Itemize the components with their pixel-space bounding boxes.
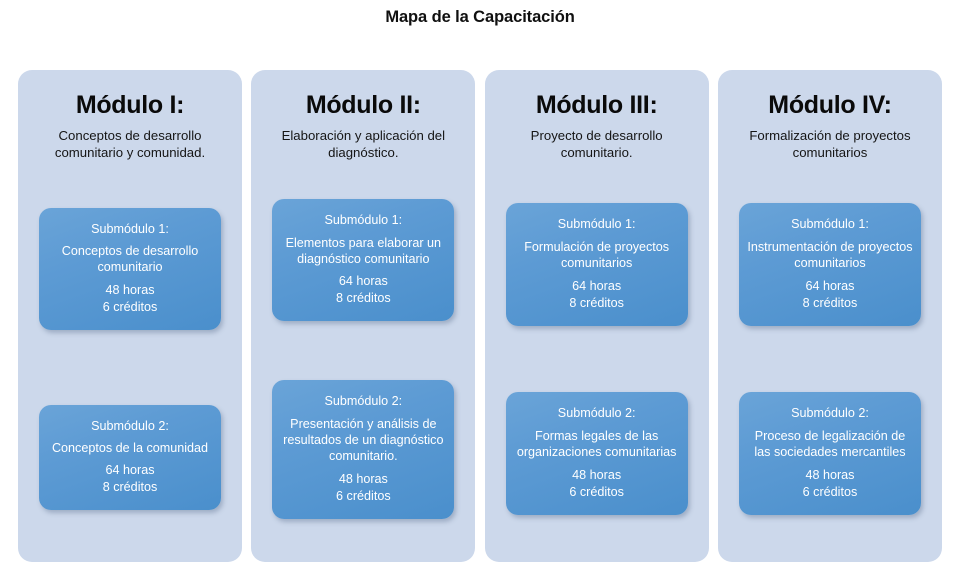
submodule-box: Submódulo 2: Formas legales de las organ… [506, 392, 688, 514]
submodule-hours: 48 horas [572, 467, 621, 484]
submodule-label: Submódulo 2: [91, 418, 169, 434]
module-title: Módulo I: [76, 92, 184, 118]
page-title: Mapa de la Capacitación [0, 8, 960, 27]
submodule-label: Submódulo 1: [791, 216, 869, 232]
module-card-2: Módulo II: Elaboración y aplicación del … [251, 70, 475, 562]
submodule-label: Submódulo 2: [791, 405, 869, 421]
submodule-name: Conceptos de desarrollo comunitario [47, 243, 213, 276]
submodule-name: Formulación de proyectos comunitarios [514, 239, 680, 272]
module-description: Elaboración y aplicación del diagnóstico… [261, 128, 465, 162]
submodule-credits: 8 créditos [336, 290, 391, 307]
submodule-box: Submódulo 2: Proceso de legalización de … [739, 392, 921, 514]
submodule-credits: 6 créditos [103, 299, 158, 316]
submodule-credits: 8 créditos [103, 479, 158, 496]
submodule-name: Presentación y análisis de resultados de… [280, 416, 446, 465]
submodule-credits: 6 créditos [569, 484, 624, 501]
submodule-credits: 8 créditos [569, 295, 624, 312]
module-card-3: Módulo III: Proyecto de desarrollo comun… [485, 70, 709, 562]
module-title: Módulo II: [306, 92, 421, 118]
submodule-name: Instrumentación de proyectos comunitario… [747, 239, 913, 272]
module-description: Proyecto de desarrollo comunitario. [495, 128, 699, 162]
submodule-hours: 64 horas [572, 278, 621, 295]
submodule-label: Submódulo 1: [324, 212, 402, 228]
submodule-list: Submódulo 1: Formulación de proyectos co… [495, 170, 699, 548]
submodule-credits: 6 créditos [803, 484, 858, 501]
submodule-credits: 8 créditos [803, 295, 858, 312]
submodule-credits: 6 créditos [336, 488, 391, 505]
submodule-box: Submódulo 2: Presentación y análisis de … [272, 380, 454, 518]
submodule-list: Submódulo 1: Conceptos de desarrollo com… [28, 170, 232, 548]
submodule-box: Submódulo 1: Formulación de proyectos co… [506, 203, 688, 325]
submodule-box: Submódulo 1: Elementos para elaborar un … [272, 199, 454, 321]
modules-row: Módulo I: Conceptos de desarrollo comuni… [18, 70, 942, 562]
module-description: Conceptos de desarrollo comunitario y co… [28, 128, 232, 162]
submodule-box: Submódulo 2: Conceptos de la comunidad 6… [39, 405, 221, 511]
submodule-name: Proceso de legalización de las sociedade… [747, 428, 913, 461]
submodule-label: Submódulo 1: [558, 216, 636, 232]
submodule-hours: 48 horas [805, 467, 854, 484]
module-card-1: Módulo I: Conceptos de desarrollo comuni… [18, 70, 242, 562]
submodule-hours: 64 horas [105, 462, 154, 479]
submodule-label: Submódulo 1: [91, 221, 169, 237]
submodule-name: Formas legales de las organizaciones com… [514, 428, 680, 461]
submodule-box: Submódulo 1: Conceptos de desarrollo com… [39, 208, 221, 330]
module-title: Módulo III: [536, 92, 658, 118]
capacitacion-map-page: Mapa de la Capacitación Módulo I: Concep… [0, 0, 960, 567]
submodule-box: Submódulo 1: Instrumentación de proyecto… [739, 203, 921, 325]
submodule-name: Conceptos de la comunidad [52, 440, 208, 456]
submodule-hours: 48 horas [105, 282, 154, 299]
module-card-4: Módulo IV: Formalización de proyectos co… [718, 70, 942, 562]
submodule-list: Submódulo 1: Instrumentación de proyecto… [728, 170, 932, 548]
submodule-label: Submódulo 2: [324, 393, 402, 409]
submodule-list: Submódulo 1: Elementos para elaborar un … [261, 170, 465, 548]
module-description: Formalización de proyectos comunitarios [728, 128, 932, 162]
submodule-name: Elementos para elaborar un diagnóstico c… [280, 235, 446, 268]
submodule-hours: 64 horas [805, 278, 854, 295]
submodule-hours: 48 horas [339, 471, 388, 488]
submodule-hours: 64 horas [339, 273, 388, 290]
module-title: Módulo IV: [768, 92, 891, 118]
submodule-label: Submódulo 2: [558, 405, 636, 421]
